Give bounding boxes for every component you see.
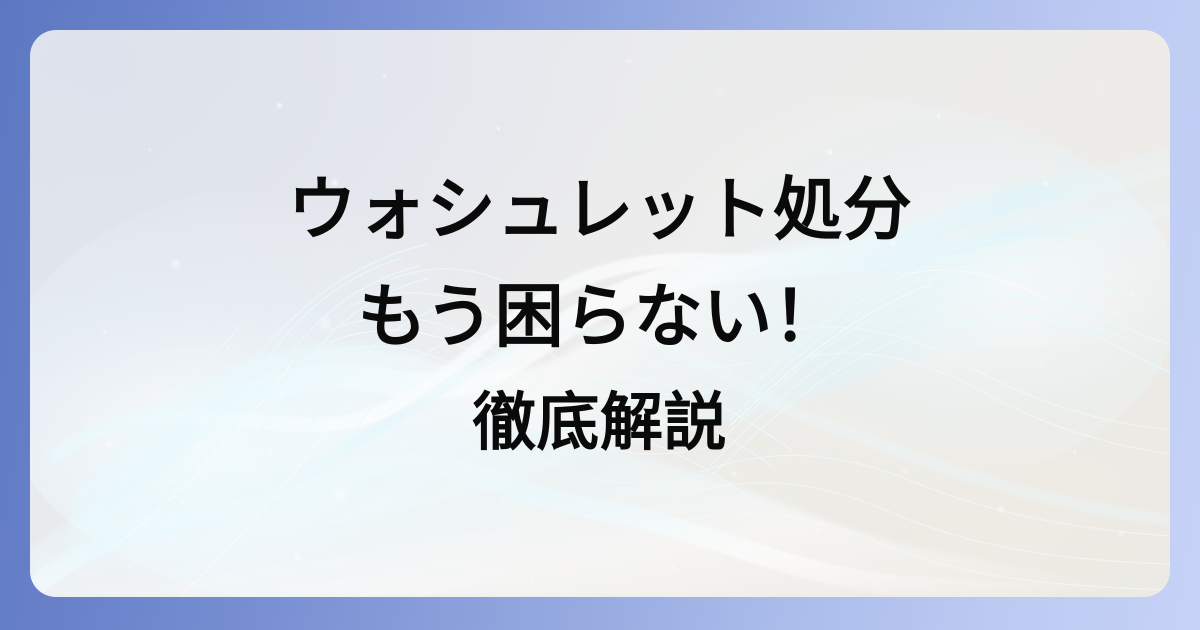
- headline-line-1: ウォシュレット処分: [288, 157, 913, 264]
- headline-line-2: もう困らない！: [358, 264, 843, 371]
- headline-block: ウォシュレット処分 もう困らない！ 徹底解説: [30, 30, 1170, 597]
- eyecatch-canvas: ウォシュレット処分 もう困らない！ 徹底解説: [0, 0, 1200, 630]
- headline-line-3: 徹底解説: [473, 375, 727, 471]
- content-card: ウォシュレット処分 もう困らない！ 徹底解説: [30, 30, 1170, 597]
